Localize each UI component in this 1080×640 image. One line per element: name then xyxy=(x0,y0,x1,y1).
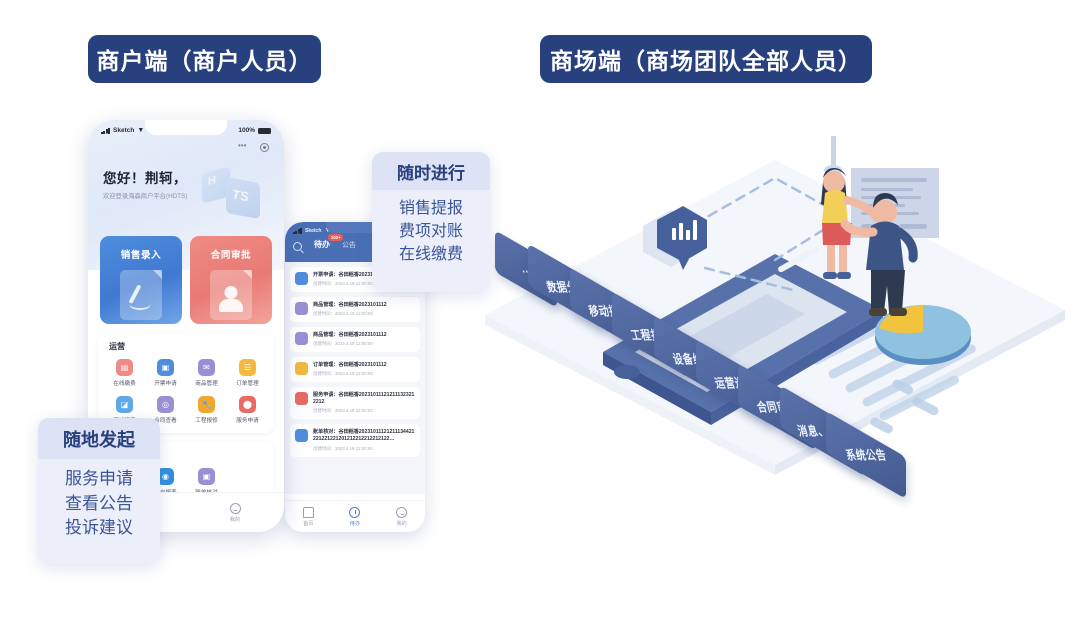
more-dots-icon[interactable] xyxy=(239,142,250,153)
list-item-icon xyxy=(295,272,308,285)
search-icon[interactable] xyxy=(293,242,302,251)
list-item[interactable]: 账单核对：谷田稻香2023101112121113442122122122120… xyxy=(290,424,420,457)
list-item-icon xyxy=(295,392,308,405)
greeting-block: 您好！荆轲， 欢迎登录海森商户平台(HDTS) xyxy=(88,153,284,200)
list-item-title: 服务申请：谷田稻香20231011121211132321 2212 xyxy=(313,392,415,407)
list-item[interactable]: 商品管理：谷田稻香2023101112 创建时间：2023.4.19 12:00… xyxy=(290,297,420,322)
carrier-label: Sketch xyxy=(305,228,321,234)
heading-mall-side: 商场端（商场团队全部人员） xyxy=(540,35,872,83)
list-item[interactable]: 订单管理：谷田稻香2023101112 创建时间：2023.4.19 12:00… xyxy=(290,357,420,382)
contract-icon: ◎ xyxy=(157,396,174,413)
list-item-time: 创建时间：2023.4.19 12:00:00 xyxy=(313,371,415,377)
section-title: 运营 xyxy=(104,341,268,352)
tabbar-item-me[interactable]: 我的 xyxy=(379,507,425,527)
greeting-subtitle: 欢迎登录海森商户平台(HDTS) xyxy=(103,191,284,200)
grid-item-online-payment[interactable]: ▤ 在线缴费 xyxy=(104,359,145,387)
tabbar-item-todo[interactable]: 待办 xyxy=(332,507,378,527)
wifi-icon: ▼ xyxy=(137,127,144,134)
phone1-top-icons xyxy=(88,134,284,153)
list-item[interactable]: 服务申请：谷田稻香20231011121211132321 2212 创建时间：… xyxy=(290,387,420,420)
invoice-icon: ▣ xyxy=(157,359,174,376)
tabbar-item-home[interactable]: 首页 xyxy=(285,507,331,527)
list-item-icon xyxy=(295,362,308,375)
battery-percent: 100% xyxy=(238,127,255,134)
callout-anywhere-title: 随地发起 xyxy=(38,418,160,459)
callout-item: 在线缴费 xyxy=(372,243,490,266)
payment-icon: ▤ xyxy=(116,359,133,376)
list-item-time: 创建时间：2023.4.19 12:00:00 xyxy=(313,341,415,347)
repair-icon: 🔧 xyxy=(198,396,215,413)
operations-grid: ▤ 在线缴费 ▣ 开票申请 ✉ 商品管理 ☰ 订单管理 ◪ 商城报表 xyxy=(104,359,268,424)
tab-notice[interactable]: 公告 xyxy=(342,240,356,251)
callout-item: 投诉建议 xyxy=(38,516,160,541)
list-item-title: 商品管理：谷田稻香2023101112 xyxy=(313,332,415,339)
phone2-tabbar: 首页 待办 我的 xyxy=(285,500,425,532)
callout-anywhere-items: 服务申请 查看公告 投诉建议 xyxy=(38,459,160,549)
grid-item-service-request[interactable]: ⬤ 服务申请 xyxy=(227,396,268,424)
list-item-time: 创建时间：2023.4.19 12:00:00 xyxy=(313,446,415,452)
card-contract-approval[interactable]: 合同审批 xyxy=(190,236,272,324)
list-item-icon xyxy=(295,302,308,315)
grid-item-goods-management[interactable]: ✉ 商品管理 xyxy=(186,359,227,387)
isometric-illustration: ... 数据分析 移动招商 工程报修 设备维修 运营巡检 合同审批 消息、待办 … xyxy=(475,120,1075,540)
tabbar-item-me[interactable]: 我的 xyxy=(212,503,258,523)
todo-list[interactable]: 开票申请：谷田稻香2023101112212212 创建时间：2023.4.19… xyxy=(285,262,425,494)
carrier-label: Sketch xyxy=(113,127,134,134)
infographic-canvas: 商户端（商户人员） 商场端（商场团队全部人员） Sketch ▼ 待办 100+… xyxy=(0,0,1080,640)
signal-icon xyxy=(101,128,110,134)
me-icon xyxy=(396,507,407,518)
me-icon xyxy=(230,503,241,514)
list-item-icon xyxy=(295,429,308,442)
todo-badge: 100+ xyxy=(328,234,343,241)
clock-icon xyxy=(349,507,360,518)
list-item[interactable]: 商品管理：谷田稻香2023101112 创建时间：2023.4.19 12:00… xyxy=(290,327,420,352)
callout-item: 服务申请 xyxy=(38,467,160,492)
service-icon: ⬤ xyxy=(239,396,256,413)
list-item-time: 创建时间：2023.4.19 12:00:00 xyxy=(313,311,415,317)
isometric-scene xyxy=(475,120,1075,540)
callout-anytime: 随时进行 销售提报 费项对账 在线缴费 xyxy=(372,152,490,292)
pen-note-icon xyxy=(120,270,162,320)
greeting-title: 您好！荆轲， xyxy=(103,167,284,187)
report-icon: ◪ xyxy=(116,396,133,413)
battery-icon xyxy=(258,128,271,134)
callout-item: 查看公告 xyxy=(38,492,160,517)
list-item-title: 订单管理：谷田稻香2023101112 xyxy=(313,362,415,369)
phone1-notch xyxy=(145,120,227,135)
grid-item-order-management[interactable]: ☰ 订单管理 xyxy=(227,359,268,387)
heading-merchant-side: 商户端（商户人员） xyxy=(88,35,321,83)
callout-item: 销售提报 xyxy=(372,197,490,220)
order-icon: ☰ xyxy=(239,359,256,376)
list-item-icon xyxy=(295,332,308,345)
callout-anytime-title: 随时进行 xyxy=(372,152,490,190)
goods-icon: ✉ xyxy=(198,359,215,376)
scan-icon[interactable] xyxy=(259,142,270,153)
callout-item: 费项对账 xyxy=(372,220,490,243)
list-item-title: 账单核对：谷田稻香2023101112121113442122122122120… xyxy=(313,429,415,444)
stamp-person-icon xyxy=(210,270,252,320)
primary-action-cards: 销售录入 合同审批 xyxy=(88,236,284,324)
list-item-time: 创建时间：2023.4.19 12:00:00 xyxy=(313,408,415,414)
bill-check-icon: ▣ xyxy=(198,468,215,485)
grid-item-engineering-repair[interactable]: 🔧 工程报修 xyxy=(186,396,227,424)
grid-item-invoice-request[interactable]: ▣ 开票申请 xyxy=(145,359,186,387)
callout-anytime-items: 销售提报 费项对账 在线缴费 xyxy=(372,190,490,274)
list-item-title: 商品管理：谷田稻香2023101112 xyxy=(313,302,415,309)
home-icon xyxy=(303,507,314,518)
tab-todo[interactable]: 待办 100+ xyxy=(314,239,330,251)
signal-icon xyxy=(293,228,302,234)
card-sales-entry[interactable]: 销售录入 xyxy=(100,236,182,324)
callout-anywhere: 随地发起 服务申请 查看公告 投诉建议 xyxy=(38,418,160,564)
